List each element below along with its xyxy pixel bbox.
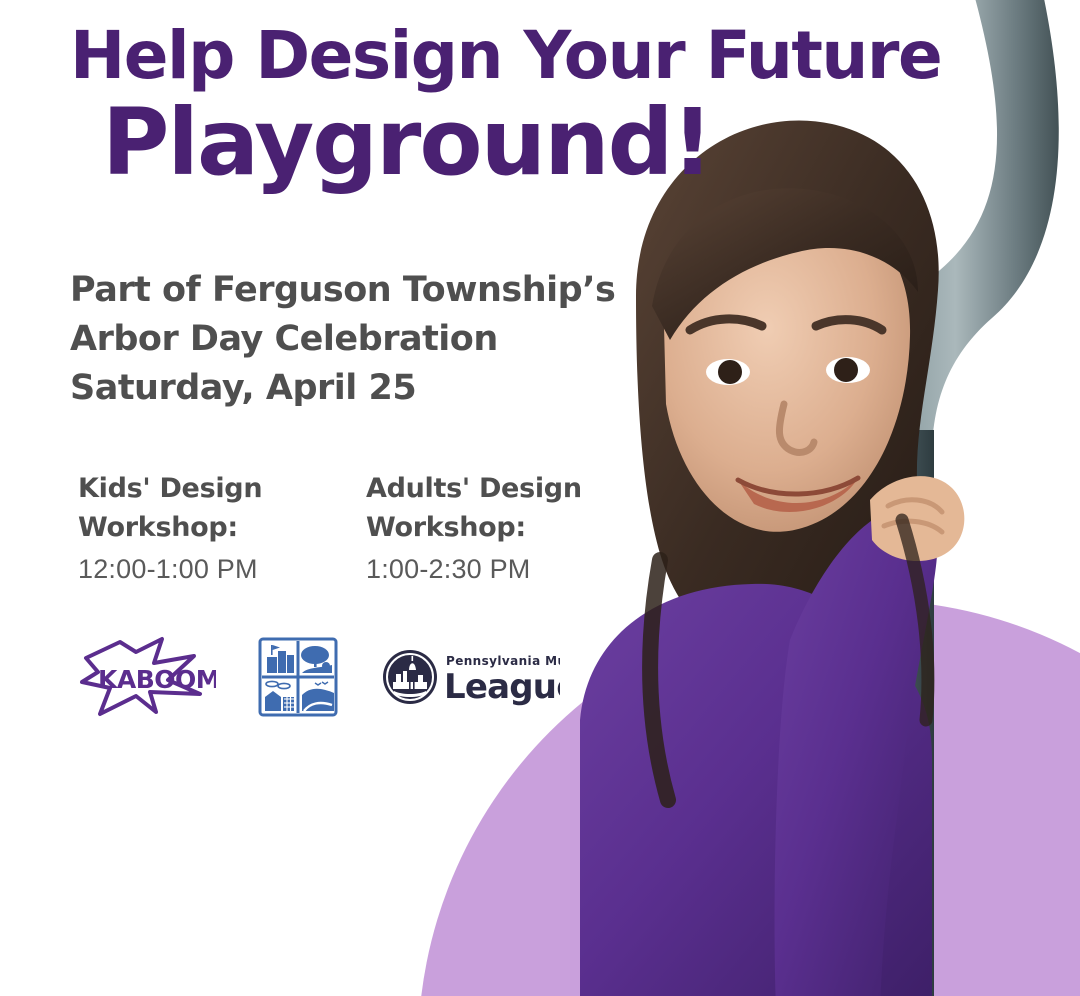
four-quadrant-seal-icon	[258, 637, 338, 717]
kids-workshop-title-line-1: Kids' Design	[78, 469, 308, 508]
subheadline-line-1: Part of Ferguson Township’s	[70, 266, 720, 315]
adults-workshop-title-line-2: Workshop:	[366, 508, 596, 547]
headline-line-1: Help Design Your Future	[70, 22, 720, 89]
kids-workshop-title: Kids' Design Workshop:	[78, 469, 308, 548]
league-wordmark: League	[444, 667, 560, 707]
adults-workshop-title-line-1: Adults' Design	[366, 469, 596, 508]
subheadline-block: Part of Ferguson Township’s Arbor Day Ce…	[70, 266, 720, 413]
kids-workshop-time: 12:00-1:00 PM	[78, 553, 308, 587]
league-tagline: Pennsylvania Municipal	[446, 654, 560, 668]
kaboom-wordmark: KABOOM!	[98, 665, 216, 694]
pennsylvania-municipal-league-logo: Pennsylvania Municipal League	[380, 644, 560, 710]
adults-workshop: Adults' Design Workshop: 1:00-2:30 PM	[366, 469, 596, 587]
headline-line-2: Playground!	[102, 95, 720, 192]
subheadline-line-3: Saturday, April 25	[70, 364, 720, 413]
kids-workshop-title-line-2: Workshop:	[78, 508, 308, 547]
kaboom-logo: KABOOM!	[76, 636, 216, 718]
workshops-section: Kids' Design Workshop: 12:00-1:00 PM Adu…	[78, 469, 720, 587]
adults-workshop-time: 1:00-2:30 PM	[366, 553, 596, 587]
capitol-dome-circle-icon	[383, 650, 437, 704]
kids-workshop: Kids' Design Workshop: 12:00-1:00 PM	[78, 469, 308, 587]
ferguson-township-seal	[258, 637, 338, 717]
poster-canvas: Help Design Your Future Playground! Part…	[0, 0, 1080, 996]
sponsor-logos-row: KABOOM!	[76, 634, 720, 720]
subheadline-line-2: Arbor Day Celebration	[70, 315, 720, 364]
poster-text-column: Help Design Your Future Playground! Part…	[0, 0, 720, 996]
adults-workshop-title: Adults' Design Workshop:	[366, 469, 596, 548]
